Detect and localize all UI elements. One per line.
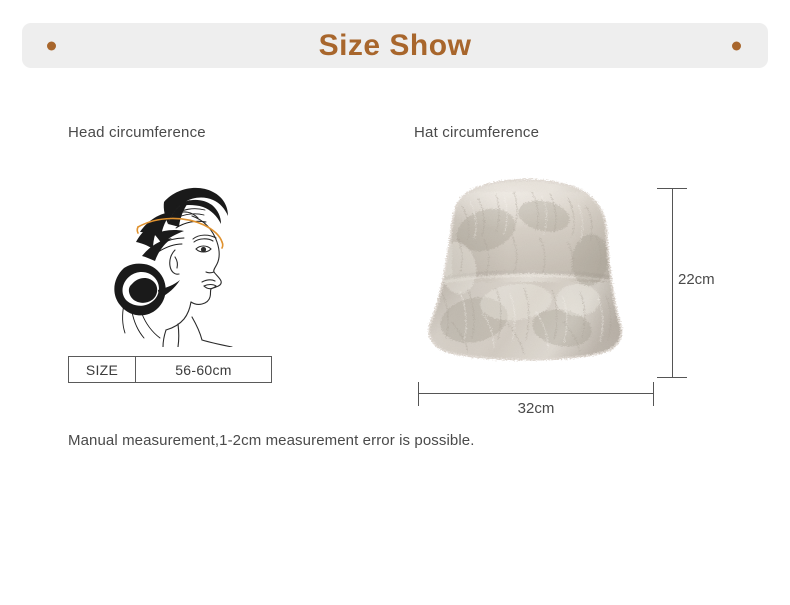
size-table: SIZE 56-60cm: [68, 356, 272, 383]
hat-circumference-label: Hat circumference: [414, 124, 539, 141]
bucket-hat-product-image: [412, 172, 652, 382]
size-show-header-bar: Size Show: [22, 23, 768, 68]
decorative-dot-right-icon: [732, 41, 741, 50]
hat-height-label: 22cm: [678, 271, 715, 288]
size-table-value-cell: 56-60cm: [136, 357, 271, 382]
dimension-stem-horizontal: [418, 393, 654, 394]
page-title: Size Show: [22, 31, 768, 61]
head-measurement-illustration: [80, 172, 270, 347]
dimension-stem-vertical: [672, 188, 673, 378]
dimension-tick-bottom: [657, 377, 687, 378]
measurement-disclaimer: Manual measurement,1-2cm measurement err…: [68, 432, 475, 449]
size-table-header-cell: SIZE: [69, 357, 136, 382]
hat-width-label: 32cm: [418, 400, 654, 417]
head-circumference-label: Head circumference: [68, 124, 206, 141]
